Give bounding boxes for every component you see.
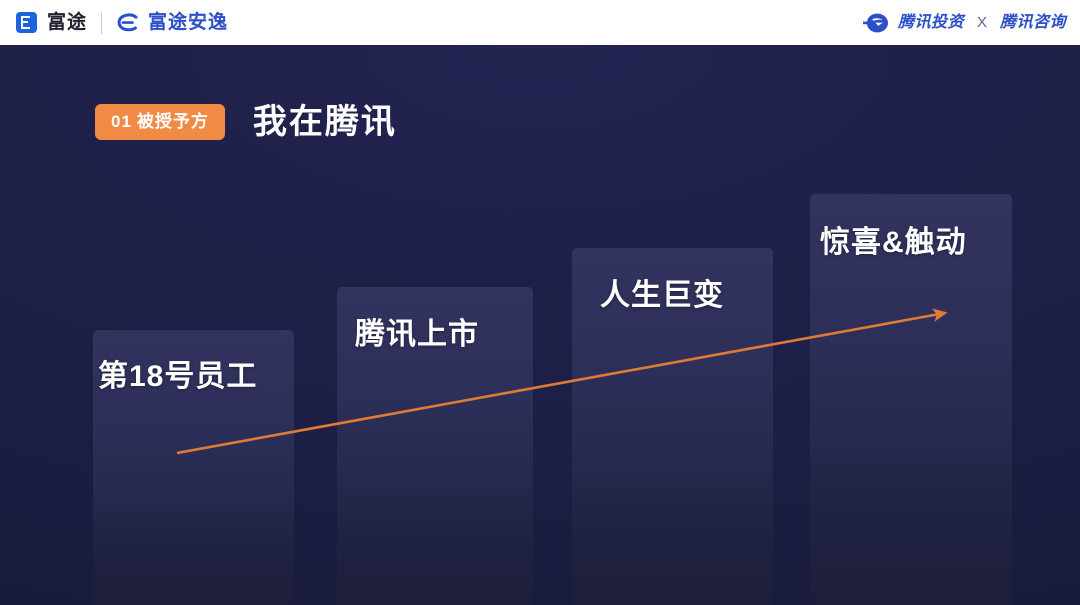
futu-brand-name: 富途 xyxy=(47,13,87,32)
partner-left-label: 腾讯投资 xyxy=(898,15,964,31)
futu-logo-icon xyxy=(16,12,37,33)
chart-bar-label: 腾讯上市 xyxy=(355,320,479,350)
top-header-bar: 富途 富途安逸 腾讯投资 X 腾讯咨 xyxy=(0,0,1080,45)
slide-canvas: 富途 富途安逸 腾讯投资 X 腾讯咨 xyxy=(0,0,1080,605)
futu-anyi-logo-icon xyxy=(116,13,140,33)
chart-bar-label: 惊喜&触动 xyxy=(820,228,967,258)
tencent-swoosh-icon xyxy=(863,12,889,34)
partner-lockup: 腾讯投资 X 腾讯咨询 xyxy=(863,12,1066,34)
brand-divider xyxy=(101,12,102,34)
partner-right-label: 腾讯咨询 xyxy=(1000,15,1066,31)
brand-futu-anyi[interactable]: 富途安逸 xyxy=(116,13,228,33)
slide-body: 01被授予方 我在腾讯 第18号员工腾讯上市人生巨变惊喜&触动 xyxy=(0,45,1080,605)
growth-bar-chart: 第18号员工腾讯上市人生巨变惊喜&触动 xyxy=(0,45,1080,605)
partner-separator: X xyxy=(977,15,987,30)
futu-anyi-brand-name: 富途安逸 xyxy=(148,13,228,32)
chart-bar-label: 人生巨变 xyxy=(600,281,724,311)
chart-bar-label: 第18号员工 xyxy=(98,362,257,392)
brand-futu[interactable]: 富途 xyxy=(16,12,87,33)
